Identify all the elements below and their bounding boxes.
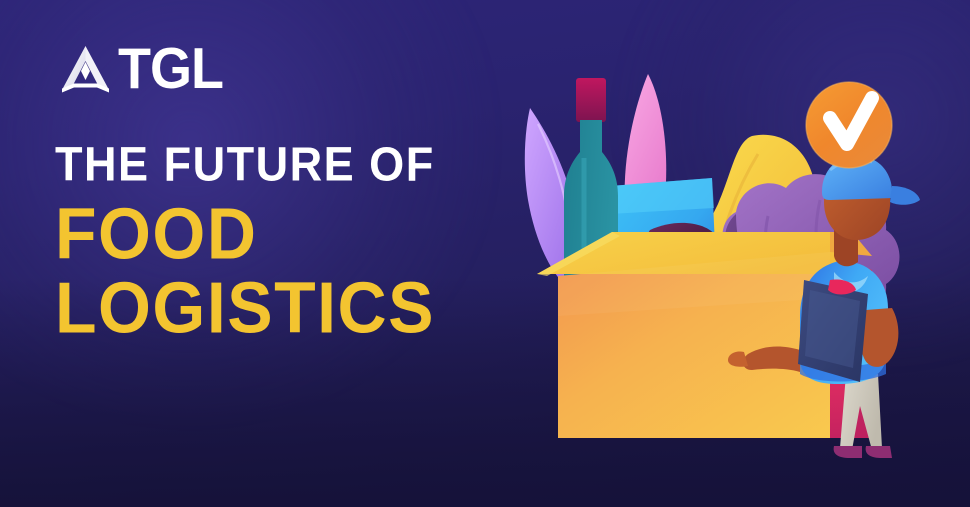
illustration-svg <box>500 58 970 468</box>
food-delivery-illustration <box>500 58 970 468</box>
brand-logo-text: TGL <box>118 41 223 96</box>
courier-shoe-right <box>866 446 892 458</box>
headline-line-1: THE FUTURE OF <box>55 140 516 188</box>
headline-line-2: FOOD <box>55 198 525 270</box>
tgl-triangle-logo-icon <box>58 43 114 95</box>
headline-block: THE FUTURE OF FOOD LOGISTICS <box>55 140 525 340</box>
brand-logo[interactable]: TGL <box>58 41 223 97</box>
headline-line-3: LOGISTICS <box>55 272 525 344</box>
banner-root: TGL THE FUTURE OF FOOD LOGISTICS <box>0 0 970 507</box>
verified-check-badge[interactable] <box>806 82 892 168</box>
clipboard <box>798 279 868 382</box>
courier-shoe-left <box>834 446 862 458</box>
